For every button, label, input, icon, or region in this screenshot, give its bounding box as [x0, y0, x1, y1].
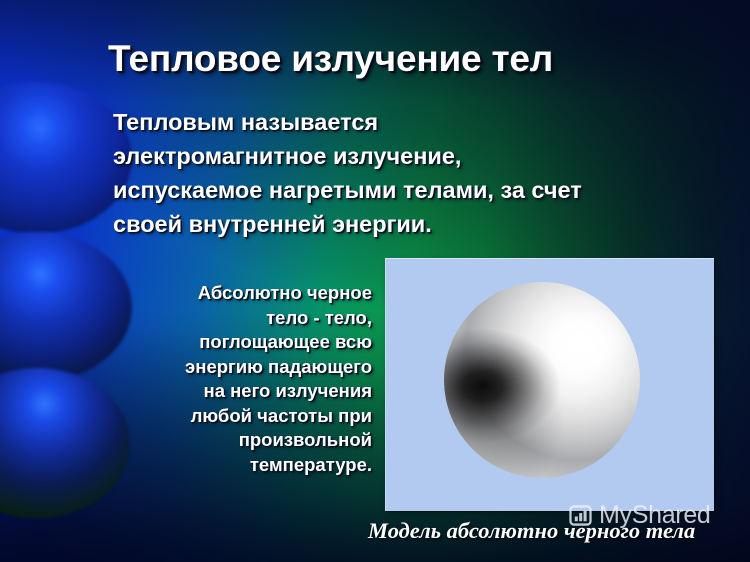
black-body-definition-line: Абсолютно черное — [120, 281, 372, 306]
black-body-definition-line: поглощающее всю — [120, 330, 372, 355]
black-body-definition-line: на него излучения — [120, 379, 372, 404]
black-body-definition-line: любой частоты при — [120, 404, 372, 429]
definition-line: своей внутренней энергии. — [113, 207, 701, 241]
black-body-definition-line: температуре. — [120, 453, 372, 478]
black-body-sphere-image — [444, 282, 640, 478]
black-body-definition-text: Абсолютно черное тело - тело, поглощающе… — [120, 281, 372, 477]
sphere-highlight — [444, 282, 640, 478]
black-body-definition-line: произвольной — [120, 428, 372, 453]
bar-chart-icon — [569, 505, 592, 526]
definition-line: испускаемое нагретыми телами, за счет — [113, 173, 701, 207]
watermark-label: MyShared — [599, 503, 711, 528]
black-body-definition-line: тело - тело, — [120, 306, 372, 331]
figure-panel — [385, 258, 714, 511]
watermark: MyShared — [569, 503, 711, 528]
black-body-definition-line: энергию падающего — [120, 355, 372, 380]
definition-line: электромагнитное излучение, — [113, 139, 701, 173]
definition-line: Тепловым называется — [113, 105, 701, 139]
definition-text: Тепловым называется электромагнитное изл… — [113, 105, 701, 241]
presentation-slide: Тепловое излучение тел Тепловым называет… — [0, 0, 750, 562]
slide-title: Тепловое излучение тел — [108, 38, 708, 80]
